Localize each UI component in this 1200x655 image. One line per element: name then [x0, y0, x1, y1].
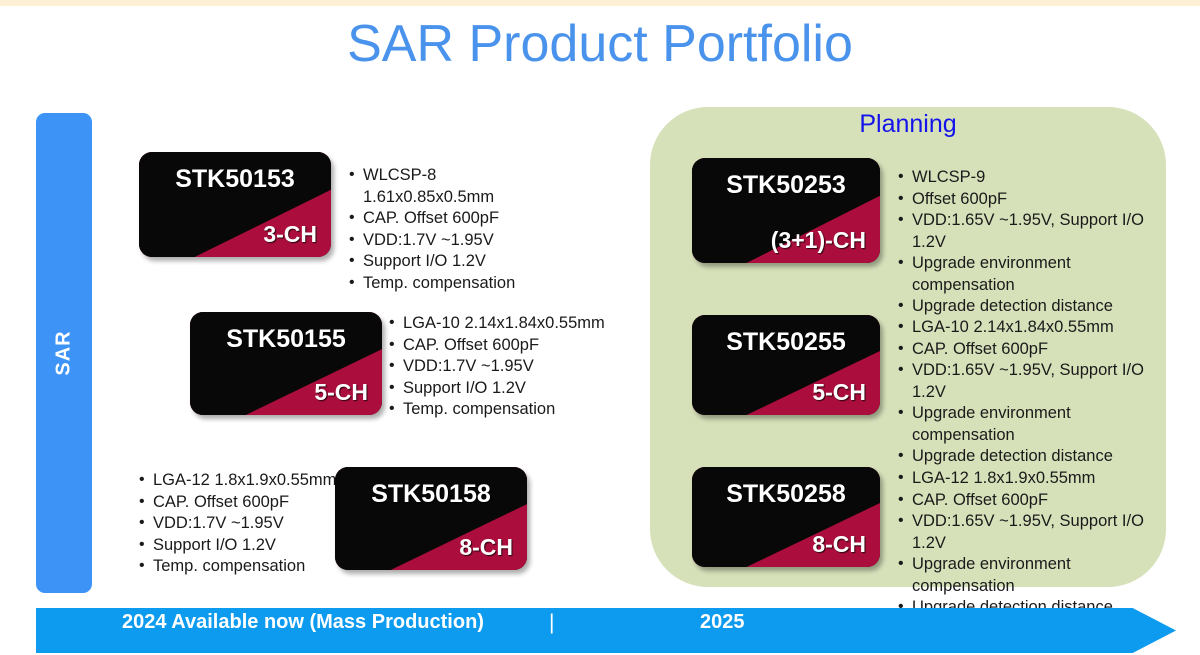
page-title: SAR Product Portfolio	[0, 14, 1200, 74]
product-specs-stk50155: LGA-10 2.14x1.84x0.55mm CAP. Offset 600p…	[388, 313, 648, 421]
product-specs-stk50158: LGA-12 1.8x1.9x0.55mm CAP. Offset 600pF …	[138, 470, 368, 578]
spec-item: CAP. Offset 600pF	[897, 490, 1177, 512]
spec-item: Upgrade detection distance	[897, 296, 1177, 318]
spec-item: VDD:1.7V ~1.95V	[388, 356, 648, 378]
spec-item: LGA-10 2.14x1.84x0.55mm	[388, 313, 648, 335]
spec-item: VDD:1.65V ~1.95V, Support I/O 1.2V	[897, 360, 1177, 403]
sar-category-bar: SAR	[36, 113, 92, 593]
spec-item: Upgrade environment compensation	[897, 403, 1177, 446]
spec-text-continued: 1.61x0.85x0.5mm	[363, 187, 598, 209]
spec-item: Temp. compensation	[348, 273, 598, 295]
spec-item: Upgrade environment compensation	[897, 253, 1177, 296]
product-channels: (3+1)-CH	[771, 227, 866, 254]
spec-item: Support I/O 1.2V	[348, 251, 598, 273]
planning-title: Planning	[650, 110, 1166, 139]
sar-category-label: SAR	[53, 330, 76, 375]
spec-item: VDD:1.7V ~1.95V	[348, 230, 598, 252]
product-channels: 8-CH	[459, 534, 513, 561]
spec-item: LGA-12 1.8x1.9x0.55mm	[138, 470, 368, 492]
product-card-stk50255[interactable]: STK50255 5-CH	[692, 315, 880, 415]
timeline-label-2024: 2024 Available now (Mass Production)	[122, 611, 484, 634]
timeline-separator: |	[549, 611, 554, 635]
product-channels: 5-CH	[812, 379, 866, 406]
product-channels: 3-CH	[263, 221, 317, 248]
product-specs-stk50255: LGA-10 2.14x1.84x0.55mm CAP. Offset 600p…	[897, 317, 1177, 468]
spec-item: Temp. compensation	[138, 556, 368, 578]
top-accent-strip	[0, 0, 1200, 6]
product-card-stk50258[interactable]: STK50258 8-CH	[692, 467, 880, 567]
timeline-label-2025: 2025	[700, 611, 745, 634]
product-card-stk50155[interactable]: STK50155 5-CH	[190, 312, 382, 415]
spec-item: LGA-10 2.14x1.84x0.55mm	[897, 317, 1177, 339]
product-name: STK50158	[335, 480, 527, 509]
product-channels: 5-CH	[314, 379, 368, 406]
product-name: STK50155	[190, 325, 382, 354]
spec-item: VDD:1.7V ~1.95V	[138, 513, 368, 535]
spec-item: CAP. Offset 600pF	[897, 339, 1177, 361]
spec-item: CAP. Offset 600pF	[348, 208, 598, 230]
spec-item: Support I/O 1.2V	[388, 378, 648, 400]
spec-item: Offset 600pF	[897, 189, 1177, 211]
spec-item: Upgrade environment compensation	[897, 554, 1177, 597]
product-channels: 8-CH	[812, 531, 866, 558]
product-card-stk50158[interactable]: STK50158 8-CH	[335, 467, 527, 570]
product-name: STK50258	[692, 480, 880, 509]
product-name: STK50253	[692, 171, 880, 200]
spec-item: Upgrade detection distance	[897, 446, 1177, 468]
spec-item: CAP. Offset 600pF	[388, 335, 648, 357]
product-name: STK50255	[692, 328, 880, 357]
spec-item: Support I/O 1.2V	[138, 535, 368, 557]
product-card-stk50253[interactable]: STK50253 (3+1)-CH	[692, 158, 880, 263]
spec-item: WLCSP-9	[897, 167, 1177, 189]
spec-text-continued: 1.2V	[912, 232, 1177, 254]
spec-item: LGA-12 1.8x1.9x0.55mm	[897, 468, 1177, 490]
spec-item: VDD:1.65V ~1.95V, Support I/O 1.2V	[897, 210, 1177, 253]
spec-item: VDD:1.65V ~1.95V, Support I/O 1.2V	[897, 511, 1177, 554]
spec-text: VDD:1.65V ~1.95V, Support I/O	[912, 211, 1144, 229]
product-name: STK50153	[139, 165, 331, 194]
product-specs-stk50258: LGA-12 1.8x1.9x0.55mm CAP. Offset 600pF …	[897, 468, 1177, 619]
spec-text: WLCSP-8	[363, 166, 436, 184]
product-specs-stk50153: WLCSP-8 1.61x0.85x0.5mm CAP. Offset 600p…	[348, 165, 598, 294]
spec-item: WLCSP-8 1.61x0.85x0.5mm	[348, 165, 598, 208]
spec-item: Temp. compensation	[388, 399, 648, 421]
spec-item: CAP. Offset 600pF	[138, 492, 368, 514]
product-specs-stk50253: WLCSP-9 Offset 600pF VDD:1.65V ~1.95V, S…	[897, 167, 1177, 318]
product-card-stk50153[interactable]: STK50153 3-CH	[139, 152, 331, 257]
